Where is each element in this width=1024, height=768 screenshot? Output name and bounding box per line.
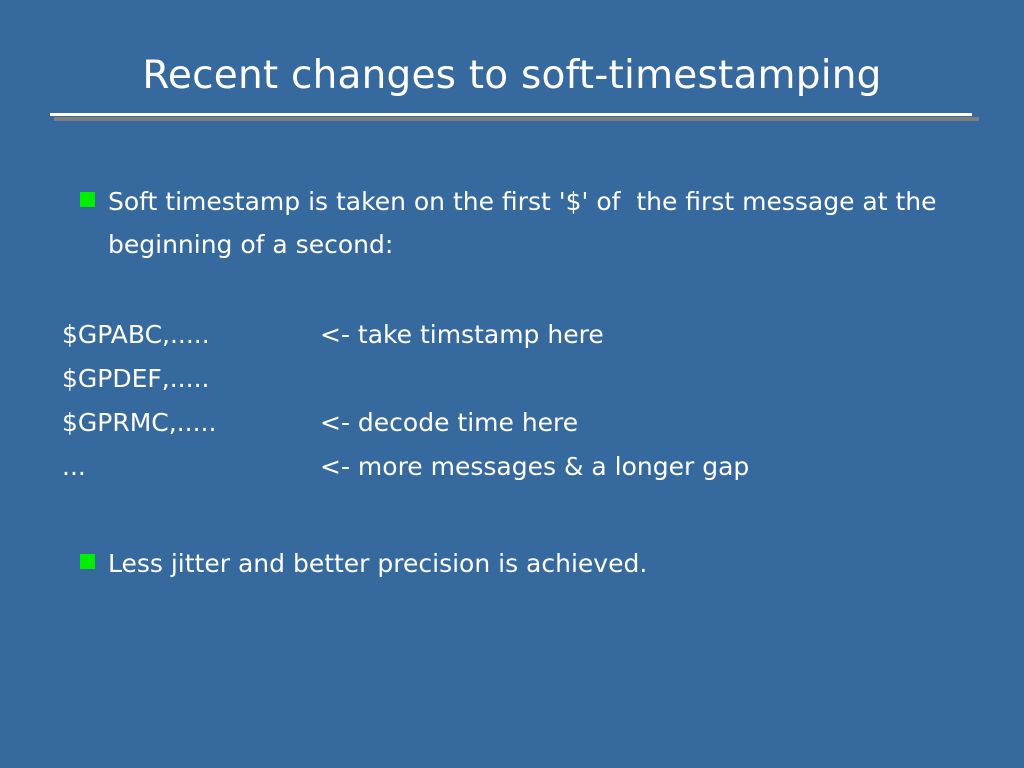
listing-message: $GPABC,..... xyxy=(62,313,210,357)
listing-message: ... xyxy=(62,445,86,489)
bullet-text: Less jitter and better precision is achi… xyxy=(108,542,980,585)
listing-row: ... <- more messages & a longer gap xyxy=(62,445,962,489)
listing-row: $GPDEF,..... xyxy=(62,357,962,401)
slide-body: Soft timestamp is taken on the first '$'… xyxy=(0,0,1024,768)
bullet-text: Soft timestamp is taken on the first '$'… xyxy=(108,180,948,266)
listing-row: $GPRMC,..... <- decode time here xyxy=(62,401,962,445)
listing-note: <- decode time here xyxy=(320,401,578,445)
green-square-bullet-icon xyxy=(80,554,95,569)
listing-note: <- take timstamp here xyxy=(320,313,604,357)
listing-note: <- more messages & a longer gap xyxy=(320,445,749,489)
slide: Recent changes to soft-timestamping Soft… xyxy=(0,0,1024,768)
list-item: Less jitter and better precision is achi… xyxy=(80,542,980,585)
listing-message: $GPDEF,..... xyxy=(62,357,209,401)
message-listing: $GPABC,..... <- take timstamp here $GPDE… xyxy=(62,313,962,489)
listing-message: $GPRMC,..... xyxy=(62,401,216,445)
list-item: Soft timestamp is taken on the first '$'… xyxy=(80,180,980,266)
listing-row: $GPABC,..... <- take timstamp here xyxy=(62,313,962,357)
green-square-bullet-icon xyxy=(80,192,95,207)
